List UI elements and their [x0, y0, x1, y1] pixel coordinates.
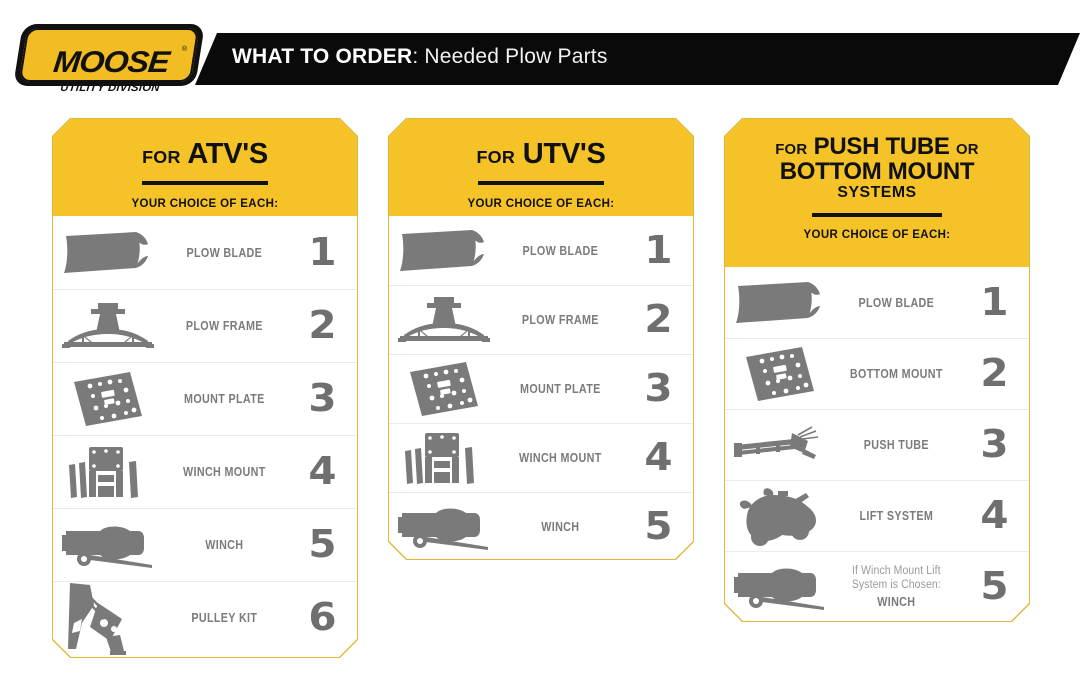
row-label-wrap: WINCH MOUNT — [171, 465, 278, 479]
row-label-wrap: BOTTOM MOUNT — [843, 367, 950, 381]
page-title: WHAT TO ORDER: Needed Plow Parts — [232, 45, 608, 69]
card-atv-header: FOR ATV'S YOUR CHOICE OF EACH: — [53, 119, 357, 216]
row-number: 1 — [290, 234, 354, 272]
plow-blade-icon — [725, 280, 834, 326]
card-utv-head-title: FOR UTV'S — [389, 119, 693, 169]
card-utv-rows: PLOW BLADE 1 PLOW FRAME 2 — [389, 216, 693, 559]
row-label-wrap: WINCH MOUNT — [507, 451, 614, 465]
bottom-mount-icon — [725, 345, 834, 403]
logo-subtitle-text: UTILITY DIVISION — [32, 82, 188, 94]
row-number: 3 — [290, 380, 354, 418]
page-title-light: : Needed Plow Parts — [412, 45, 607, 68]
plow-blade-icon — [389, 228, 498, 274]
winch-icon — [53, 521, 162, 569]
row-label: WINCH MOUNT — [519, 451, 602, 465]
row-label-wrap: PLOW BLADE — [843, 296, 950, 310]
winch-mount-icon — [53, 445, 162, 499]
card-atv-head-prefix: FOR — [142, 147, 181, 167]
row-number: 3 — [962, 426, 1026, 464]
table-row[interactable]: PLOW BLADE 1 — [389, 216, 693, 285]
page-title-strong: WHAT TO ORDER — [232, 45, 412, 68]
row-label: PLOW FRAME — [522, 313, 599, 327]
card-push-head-line2: BOTTOM MOUNT — [725, 160, 1029, 185]
row-number: 5 — [290, 526, 354, 564]
row-label-wrap: WINCH — [171, 538, 278, 552]
row-label: PLOW BLADE — [859, 296, 935, 310]
card-atv-head-main: ATV'S — [187, 138, 268, 170]
card-for-atvs: FOR ATV'S YOUR CHOICE OF EACH: PLOW BLAD… — [52, 118, 358, 658]
row-number: 3 — [626, 370, 690, 408]
card-push-head-title: FOR PUSH TUBE ORBOTTOM MOUNTSYSTEMS — [725, 119, 1029, 201]
card-face: FOR ATV'S YOUR CHOICE OF EACH: PLOW BLAD… — [53, 119, 357, 657]
row-label-wrap: PULLEY KIT — [171, 611, 278, 625]
table-row[interactable]: WINCH MOUNT 4 — [389, 423, 693, 492]
row-label: MOUNT PLATE — [520, 382, 601, 396]
card-push-head-line3: SYSTEMS — [725, 185, 1029, 201]
row-number: 4 — [626, 439, 690, 477]
page-header: MOOSE UTILITY DIVISION ® WHAT TO ORDER: … — [0, 0, 1080, 105]
mount-plate-icon — [53, 370, 162, 428]
plow-frame-icon — [389, 295, 498, 345]
table-row[interactable]: WINCH 5 — [53, 508, 357, 581]
row-label-wrap: PLOW BLADE — [507, 244, 614, 258]
table-row[interactable]: PUSH TUBE 3 — [725, 409, 1029, 480]
winch-icon — [389, 503, 498, 551]
row-label: BOTTOM MOUNT — [850, 367, 943, 381]
card-push-head-main: PUSH TUBE — [814, 133, 950, 160]
row-label: PUSH TUBE — [864, 438, 929, 452]
card-utv-subtitle: YOUR CHOICE OF EACH: — [389, 198, 693, 210]
card-push-rows: PLOW BLADE 1 BOTTOM MOUNT — [725, 267, 1029, 621]
row-label: WINCH — [542, 520, 580, 534]
row-label-wrap: PLOW BLADE — [171, 246, 278, 260]
row-label: LIFT SYSTEM — [860, 509, 934, 523]
table-row[interactable]: If Winch Mount Lift System is Chosen:WIN… — [725, 551, 1029, 621]
card-face: FOR UTV'S YOUR CHOICE OF EACH: PLOW BLAD… — [389, 119, 693, 559]
row-label: WINCH — [878, 595, 916, 609]
head-divider — [812, 213, 942, 217]
row-number: 4 — [290, 453, 354, 491]
row-label-wrap: MOUNT PLATE — [171, 392, 278, 406]
card-atv-rows: PLOW BLADE 1 PLOW FRAME 2 — [53, 216, 357, 654]
card-for-push-tube-bottom-mount: FOR PUSH TUBE ORBOTTOM MOUNTSYSTEMS YOUR… — [724, 118, 1030, 622]
row-label-wrap: PUSH TUBE — [843, 438, 950, 452]
row-number: 5 — [962, 568, 1026, 606]
table-row[interactable]: WINCH 5 — [389, 492, 693, 559]
row-label-wrap: PLOW FRAME — [171, 319, 278, 333]
card-for-utvs: FOR UTV'S YOUR CHOICE OF EACH: PLOW BLAD… — [388, 118, 694, 560]
pulley-kit-icon — [53, 579, 162, 657]
card-face: FOR PUSH TUBE ORBOTTOM MOUNTSYSTEMS YOUR… — [725, 119, 1029, 621]
row-label: PLOW BLADE — [523, 244, 599, 258]
row-label: PULLEY KIT — [192, 611, 258, 625]
plow-frame-icon — [53, 301, 162, 351]
registered-trademark-icon: ® — [182, 46, 187, 53]
head-divider — [142, 181, 268, 185]
table-row[interactable]: WINCH MOUNT 4 — [53, 435, 357, 508]
row-note: If Winch Mount Lift System is Chosen: — [840, 565, 954, 592]
table-row[interactable]: PLOW BLADE 1 — [725, 267, 1029, 338]
head-divider — [478, 181, 604, 185]
table-row[interactable]: PULLEY KIT 6 — [53, 581, 357, 654]
push-tube-icon — [725, 425, 834, 465]
mount-plate-icon — [389, 360, 498, 418]
row-label: MOUNT PLATE — [184, 392, 265, 406]
card-atv-subtitle: YOUR CHOICE OF EACH: — [53, 198, 357, 210]
row-label: PLOW FRAME — [186, 319, 263, 333]
card-push-head-prefix: FOR — [775, 142, 807, 158]
winch-icon — [725, 563, 834, 611]
row-number: 2 — [290, 307, 354, 345]
moose-brand-logo: MOOSE UTILITY DIVISION ® — [18, 24, 200, 86]
card-push-subtitle: YOUR CHOICE OF EACH: — [725, 229, 1029, 241]
row-label: WINCH MOUNT — [183, 465, 266, 479]
card-utv-header: FOR UTV'S YOUR CHOICE OF EACH: — [389, 119, 693, 216]
card-push-header: FOR PUSH TUBE ORBOTTOM MOUNTSYSTEMS YOUR… — [725, 119, 1029, 267]
table-row[interactable]: MOUNT PLATE 3 — [53, 362, 357, 435]
table-row[interactable]: MOUNT PLATE 3 — [389, 354, 693, 423]
table-row[interactable]: PLOW FRAME 2 — [389, 285, 693, 354]
winch-mount-icon — [389, 431, 498, 485]
card-utv-head-prefix: FOR — [476, 147, 515, 167]
row-label-wrap: PLOW FRAME — [507, 313, 614, 327]
row-number: 2 — [626, 301, 690, 339]
row-number: 5 — [626, 508, 690, 546]
table-row[interactable]: BOTTOM MOUNT 2 — [725, 338, 1029, 409]
card-utv-head-main: UTV'S — [523, 138, 606, 170]
lift-system-icon — [725, 485, 834, 547]
row-number: 1 — [962, 284, 1026, 322]
row-label: PLOW BLADE — [187, 246, 263, 260]
card-push-head-suffix: OR — [956, 142, 979, 158]
table-row[interactable]: LIFT SYSTEM 4 — [725, 480, 1029, 551]
table-row[interactable]: PLOW FRAME 2 — [53, 289, 357, 362]
row-label-wrap: If Winch Mount Lift System is Chosen:WIN… — [843, 565, 950, 609]
table-row[interactable]: PLOW BLADE 1 — [53, 216, 357, 289]
row-number: 2 — [962, 355, 1026, 393]
row-label-wrap: LIFT SYSTEM — [843, 509, 950, 523]
row-number: 6 — [290, 599, 354, 637]
row-number: 1 — [626, 232, 690, 270]
plow-blade-icon — [53, 230, 162, 276]
card-atv-head-title: FOR ATV'S — [53, 119, 357, 169]
row-label: WINCH — [206, 538, 244, 552]
row-label-wrap: MOUNT PLATE — [507, 382, 614, 396]
logo-brand-text: MOOSE — [29, 49, 194, 77]
row-number: 4 — [962, 497, 1026, 535]
row-label-wrap: WINCH — [507, 520, 614, 534]
